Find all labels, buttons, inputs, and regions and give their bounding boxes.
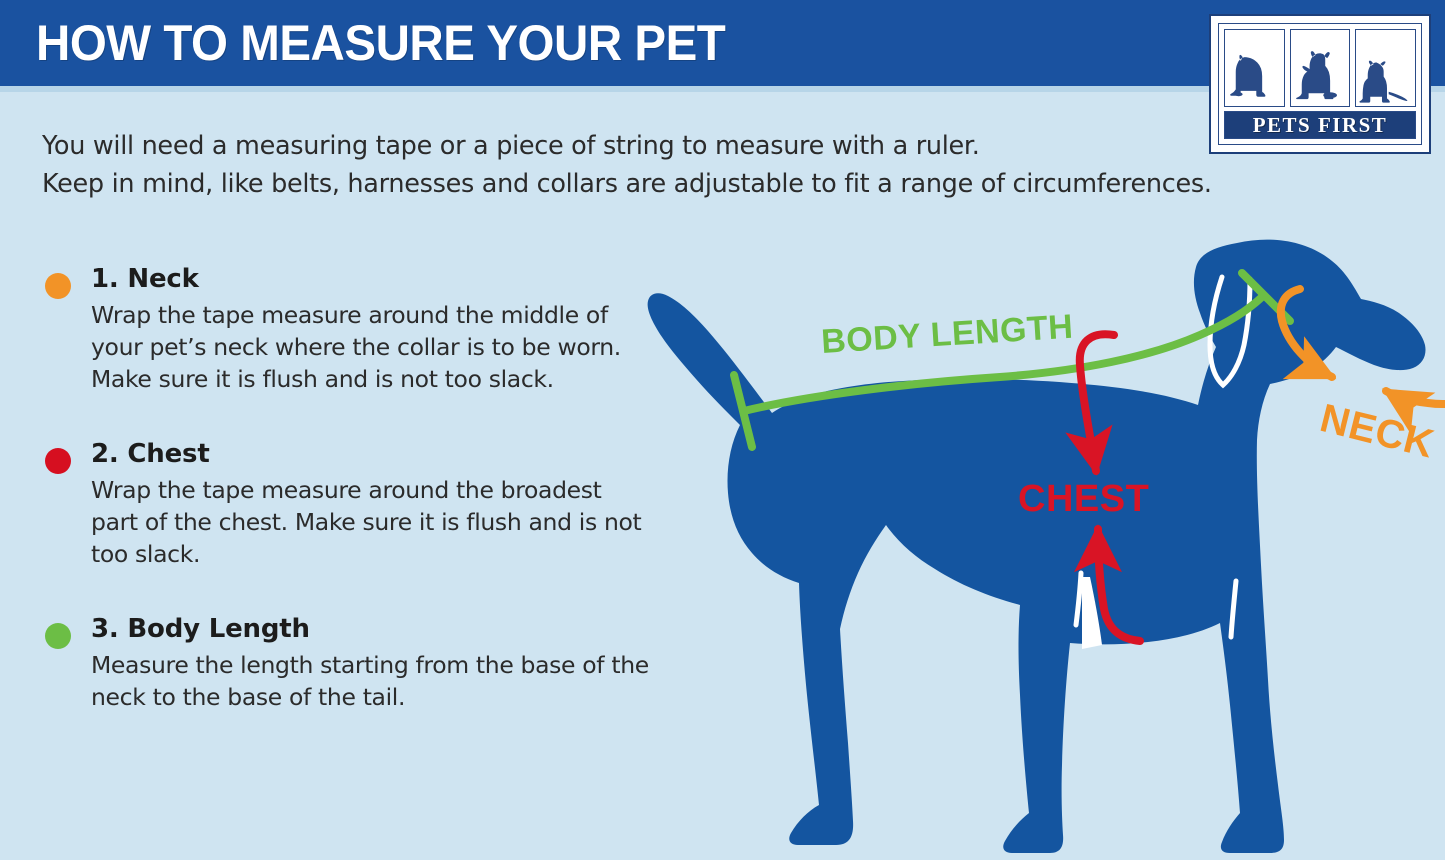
intro-paragraph: You will need a measuring tape or a piec… bbox=[42, 127, 1202, 203]
dog-measurement-diagram: BODY LENGTH NECK CHEST bbox=[630, 225, 1445, 860]
step-body-chest: Wrap the tape measure around the broades… bbox=[91, 474, 642, 570]
intro-line-2: Keep in mind, like belts, harnesses and … bbox=[42, 165, 1202, 203]
step-body-line: neck to the base of the tail. bbox=[91, 681, 642, 713]
step-body-line: Wrap the tape measure around the broades… bbox=[91, 474, 642, 506]
chest-label: CHEST bbox=[1018, 478, 1149, 520]
step-bullet-chest bbox=[45, 448, 71, 474]
step-body-line: your pet’s neck where the collar is to b… bbox=[91, 331, 642, 363]
step-body-line: part of the chest. Make sure it is flush… bbox=[91, 506, 642, 538]
measurement-steps-list: 1. Neck Wrap the tape measure around the… bbox=[42, 262, 642, 755]
dog-begging-silhouette-icon bbox=[1290, 29, 1351, 107]
step-title-chest: 2. Chest bbox=[91, 437, 642, 471]
step-body-neck: Wrap the tape measure around the middle … bbox=[91, 299, 642, 395]
step-body-line: Make sure it is flush and is not too sla… bbox=[91, 363, 642, 395]
step-bullet-body-length bbox=[45, 623, 71, 649]
step-body-line: Wrap the tape measure around the middle … bbox=[91, 299, 642, 331]
step-item-chest: 2. Chest Wrap the tape measure around th… bbox=[42, 437, 642, 570]
logo-name-bar: PETS FIRST bbox=[1224, 111, 1416, 139]
dog-sitting-alert-silhouette-icon bbox=[1355, 29, 1416, 107]
step-body-line: too slack. bbox=[91, 538, 642, 570]
brand-logo: PETS FIRST bbox=[1209, 14, 1431, 154]
step-item-body-length: 3. Body Length Measure the length starti… bbox=[42, 612, 642, 713]
dog-sitting-silhouette-icon bbox=[1224, 29, 1285, 107]
infographic-page: HOW TO MEASURE YOUR PET bbox=[0, 0, 1445, 860]
body-length-label: BODY LENGTH bbox=[820, 308, 1074, 361]
step-body-body-length: Measure the length starting from the bas… bbox=[91, 649, 642, 713]
step-title-neck: 1. Neck bbox=[91, 262, 642, 296]
step-bullet-neck bbox=[45, 273, 71, 299]
page-title: HOW TO MEASURE YOUR PET bbox=[36, 14, 725, 72]
step-body-line: Measure the length starting from the bas… bbox=[91, 649, 642, 681]
neck-label: NECK bbox=[1316, 396, 1439, 467]
step-title-body-length: 3. Body Length bbox=[91, 612, 642, 646]
logo-inner-frame: PETS FIRST bbox=[1218, 23, 1422, 145]
logo-icon-row bbox=[1224, 29, 1416, 107]
logo-name-text: PETS FIRST bbox=[1253, 113, 1388, 138]
intro-line-1: You will need a measuring tape or a piec… bbox=[42, 127, 1202, 165]
step-item-neck: 1. Neck Wrap the tape measure around the… bbox=[42, 262, 642, 395]
